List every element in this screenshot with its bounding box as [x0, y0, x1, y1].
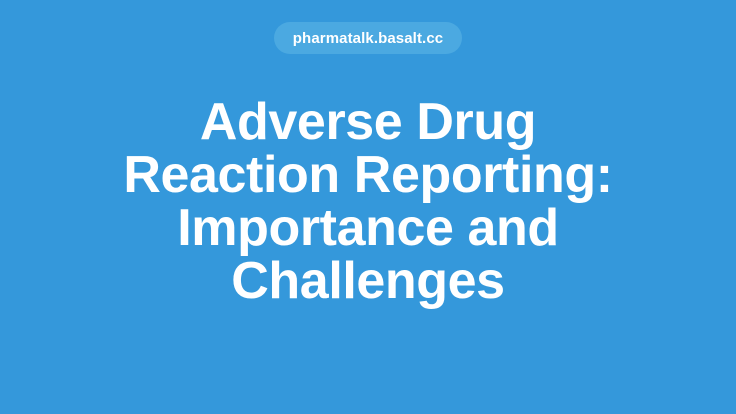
title-slide: pharmatalk.basalt.cc Adverse Drug Reacti…	[0, 0, 736, 414]
page-title-line-3: Importance and	[28, 202, 708, 255]
page-title-line-4: Challenges	[28, 255, 708, 308]
page-title: Adverse Drug Reaction Reporting: Importa…	[0, 96, 736, 308]
badge-row: pharmatalk.basalt.cc	[0, 22, 736, 54]
page-title-line-1: Adverse Drug	[28, 96, 708, 149]
page-title-line-2: Reaction Reporting:	[28, 149, 708, 202]
site-url-badge-label: pharmatalk.basalt.cc	[293, 31, 443, 46]
site-url-badge[interactable]: pharmatalk.basalt.cc	[274, 22, 462, 54]
